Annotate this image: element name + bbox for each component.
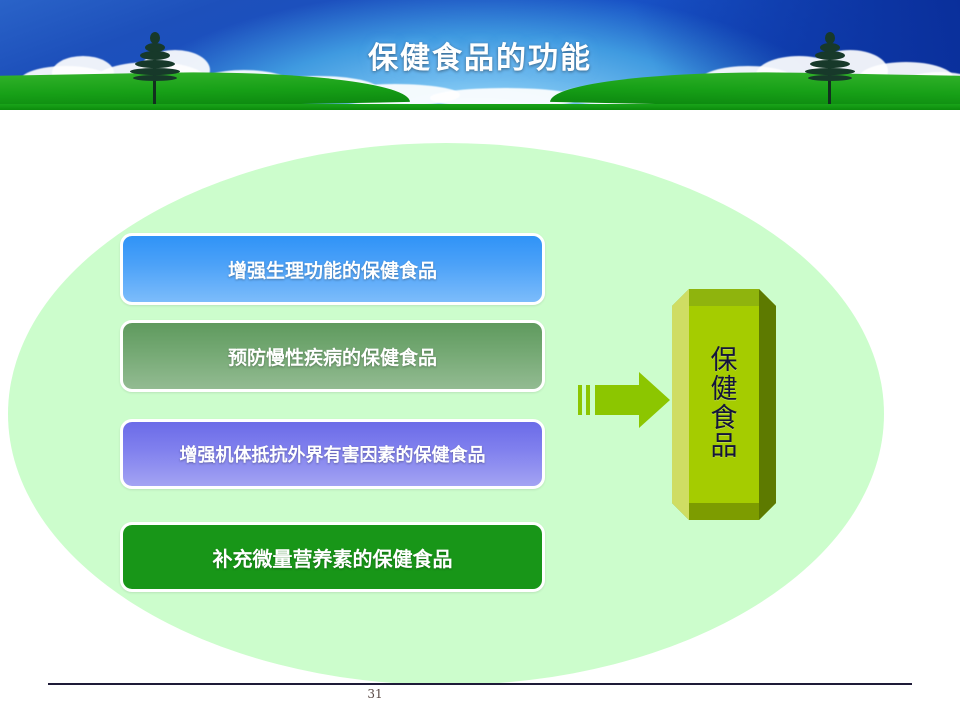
plaque-bevel-left (672, 289, 689, 520)
function-list: 增强生理功能的保健食品 预防慢性疾病的保健食品 增强机体抵抗外界有害因素的保健食… (0, 0, 960, 720)
function-box-3[interactable]: 增强机体抵抗外界有害因素的保健食品 (120, 419, 545, 489)
function-box-4-label: 补充微量营养素的保健食品 (213, 543, 453, 572)
arrow-tail-tick (586, 385, 590, 415)
function-box-4[interactable]: 补充微量营养素的保健食品 (120, 522, 545, 592)
plaque-text: 保 健 食 品 (689, 306, 759, 503)
page-number: 31 (355, 687, 395, 701)
function-box-2-label: 预防慢性疾病的保健食品 (228, 343, 437, 370)
plaque-char-1: 保 (711, 347, 738, 376)
footer-divider (48, 683, 912, 685)
plaque-char-4: 品 (711, 433, 738, 462)
plaque-char-2: 健 (711, 376, 738, 405)
plaque-bevel-right (759, 289, 776, 520)
arrow-tail-tick (578, 385, 582, 415)
result-plaque: 保 健 食 品 (672, 289, 776, 520)
slide: 保健食品的功能 增强生理功能的保健食品 预防慢性疾病的保健食品 增强机体抵抗外界… (0, 0, 960, 720)
arrow-head (639, 372, 670, 428)
right-arrow-icon (578, 372, 673, 428)
function-box-1[interactable]: 增强生理功能的保健食品 (120, 233, 545, 305)
function-box-3-label: 增强机体抵抗外界有害因素的保健食品 (180, 441, 486, 467)
arrow-body (595, 385, 640, 415)
function-box-1-label: 增强生理功能的保健食品 (228, 256, 437, 283)
plaque-char-3: 食 (711, 405, 738, 434)
function-box-2[interactable]: 预防慢性疾病的保健食品 (120, 320, 545, 392)
